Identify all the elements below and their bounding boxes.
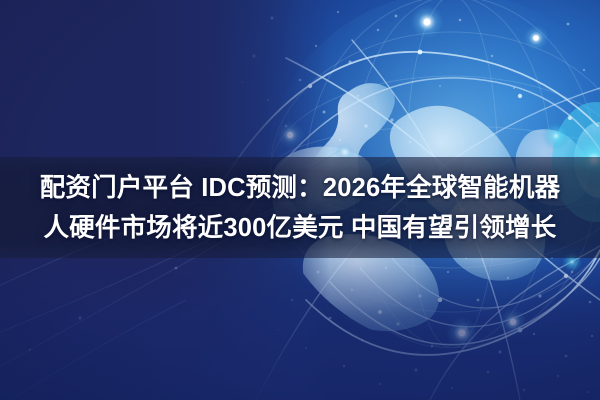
headline-line-2: 人硬件市场将近300亿美元 中国有望引领增长 xyxy=(43,209,556,247)
news-banner-image: 配资门户平台 IDC预测：2026年全球智能机器 人硬件市场将近300亿美元 中… xyxy=(0,0,600,400)
headline-line-1: 配资门户平台 IDC预测：2026年全球智能机器 xyxy=(40,169,561,207)
headline-block: 配资门户平台 IDC预测：2026年全球智能机器 人硬件市场将近300亿美元 中… xyxy=(0,157,600,258)
